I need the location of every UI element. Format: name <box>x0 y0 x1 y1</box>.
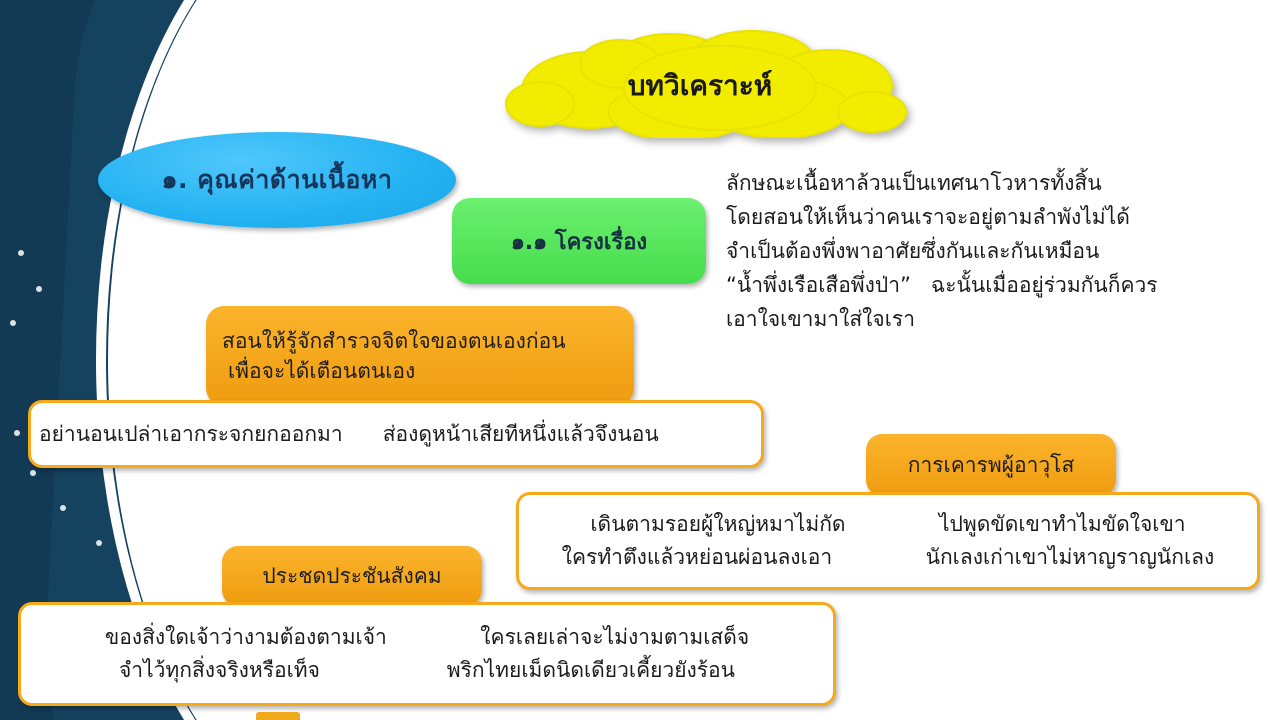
bg-dot <box>132 560 138 566</box>
heading-label: ๑. คุณค่าด้านเนื้อหา <box>162 160 393 200</box>
slide-canvas: บทวิเคราะห์ ๑. คุณค่าด้านเนื้อหา ๑.๑ โคร… <box>0 0 1280 720</box>
bg-dot <box>30 470 36 476</box>
subheading-box: ๑.๑ โครงเรื่อง <box>452 198 706 284</box>
paragraph-line: “น้ำพึ่งเรือเสือพึ่งป่า” ฉะนั้นเมื่ออยู่… <box>726 268 1254 302</box>
verse-respect-elders-box: เดินตามรอยผู้ใหญ่หมาไม่กัด ไปพูดขัดเขาทำ… <box>516 492 1260 590</box>
paragraph-line: โดยสอนให้เห็นว่าคนเราจะอยู่ตามลำพังไม่ได… <box>726 200 1254 234</box>
analysis-paragraph: ลักษณะเนื้อหาล้วนเป็นเทศนาโวหารทั้งสิ้น … <box>726 166 1254 336</box>
topic-respect-elders-label: การเคารพผู้อาวุโส <box>908 449 1075 482</box>
verse-respect-elders-line: ใครทำตึงแล้วหย่อนผ่อนลงเอา นักเลงเก่าเขา… <box>529 541 1247 574</box>
bg-dot <box>60 505 66 511</box>
bg-dot <box>36 286 42 292</box>
verse-social-satire-box: ของสิ่งใดเจ้าว่างามต้องตามเจ้า ใครเลยเล่… <box>18 602 836 706</box>
paragraph-line: เอาใจเขามาใส่ใจเรา <box>726 302 1254 336</box>
verse-self-reflection-text: อย่านอนเปล่าเอากระจกยกออกมา ส่องดูหน้าเส… <box>39 418 659 451</box>
bg-dot <box>10 320 16 326</box>
paragraph-line: จำเป็นต้องพึ่งพาอาศัยซึ่งกันและกันเหมือน <box>726 234 1254 268</box>
bg-dot <box>96 540 102 546</box>
topic-social-satire-box: ประชดประชันสังคม <box>222 546 482 606</box>
topic-self-reflection-box: สอนให้รู้จักสำรวจจิตใจของตนเองก่อน เพื่อ… <box>206 306 634 406</box>
bottom-tab-marker <box>256 712 300 720</box>
topic-self-reflection-line: เพื่อจะได้เตือนตนเอง <box>222 356 415 386</box>
topic-self-reflection-line: สอนให้รู้จักสำรวจจิตใจของตนเองก่อน <box>222 326 566 356</box>
bg-dot <box>18 250 24 256</box>
topic-respect-elders-box: การเคารพผู้อาวุโส <box>866 434 1116 496</box>
bg-dot <box>14 430 20 436</box>
verse-respect-elders-line: เดินตามรอยผู้ใหญ่หมาไม่กัด ไปพูดขัดเขาทำ… <box>529 508 1247 541</box>
title-cloud: บทวิเคราะห์ <box>480 28 920 138</box>
heading-ellipse: ๑. คุณค่าด้านเนื้อหา <box>98 132 456 228</box>
verse-self-reflection-box: อย่านอนเปล่าเอากระจกยกออกมา ส่องดูหน้าเส… <box>28 400 764 468</box>
verse-social-satire-line: ของสิ่งใดเจ้าว่างามต้องตามเจ้า ใครเลยเล่… <box>105 621 749 654</box>
subheading-label: ๑.๑ โครงเรื่อง <box>511 224 647 259</box>
topic-social-satire-label: ประชดประชันสังคม <box>262 560 441 593</box>
verse-social-satire-line: จำไว้ทุกสิ่งจริงหรือเท็จ พริกไทยเม็ดนิดเ… <box>119 654 735 687</box>
slide-title: บทวิเคราะห์ <box>480 28 920 138</box>
paragraph-line: ลักษณะเนื้อหาล้วนเป็นเทศนาโวหารทั้งสิ้น <box>726 166 1254 200</box>
